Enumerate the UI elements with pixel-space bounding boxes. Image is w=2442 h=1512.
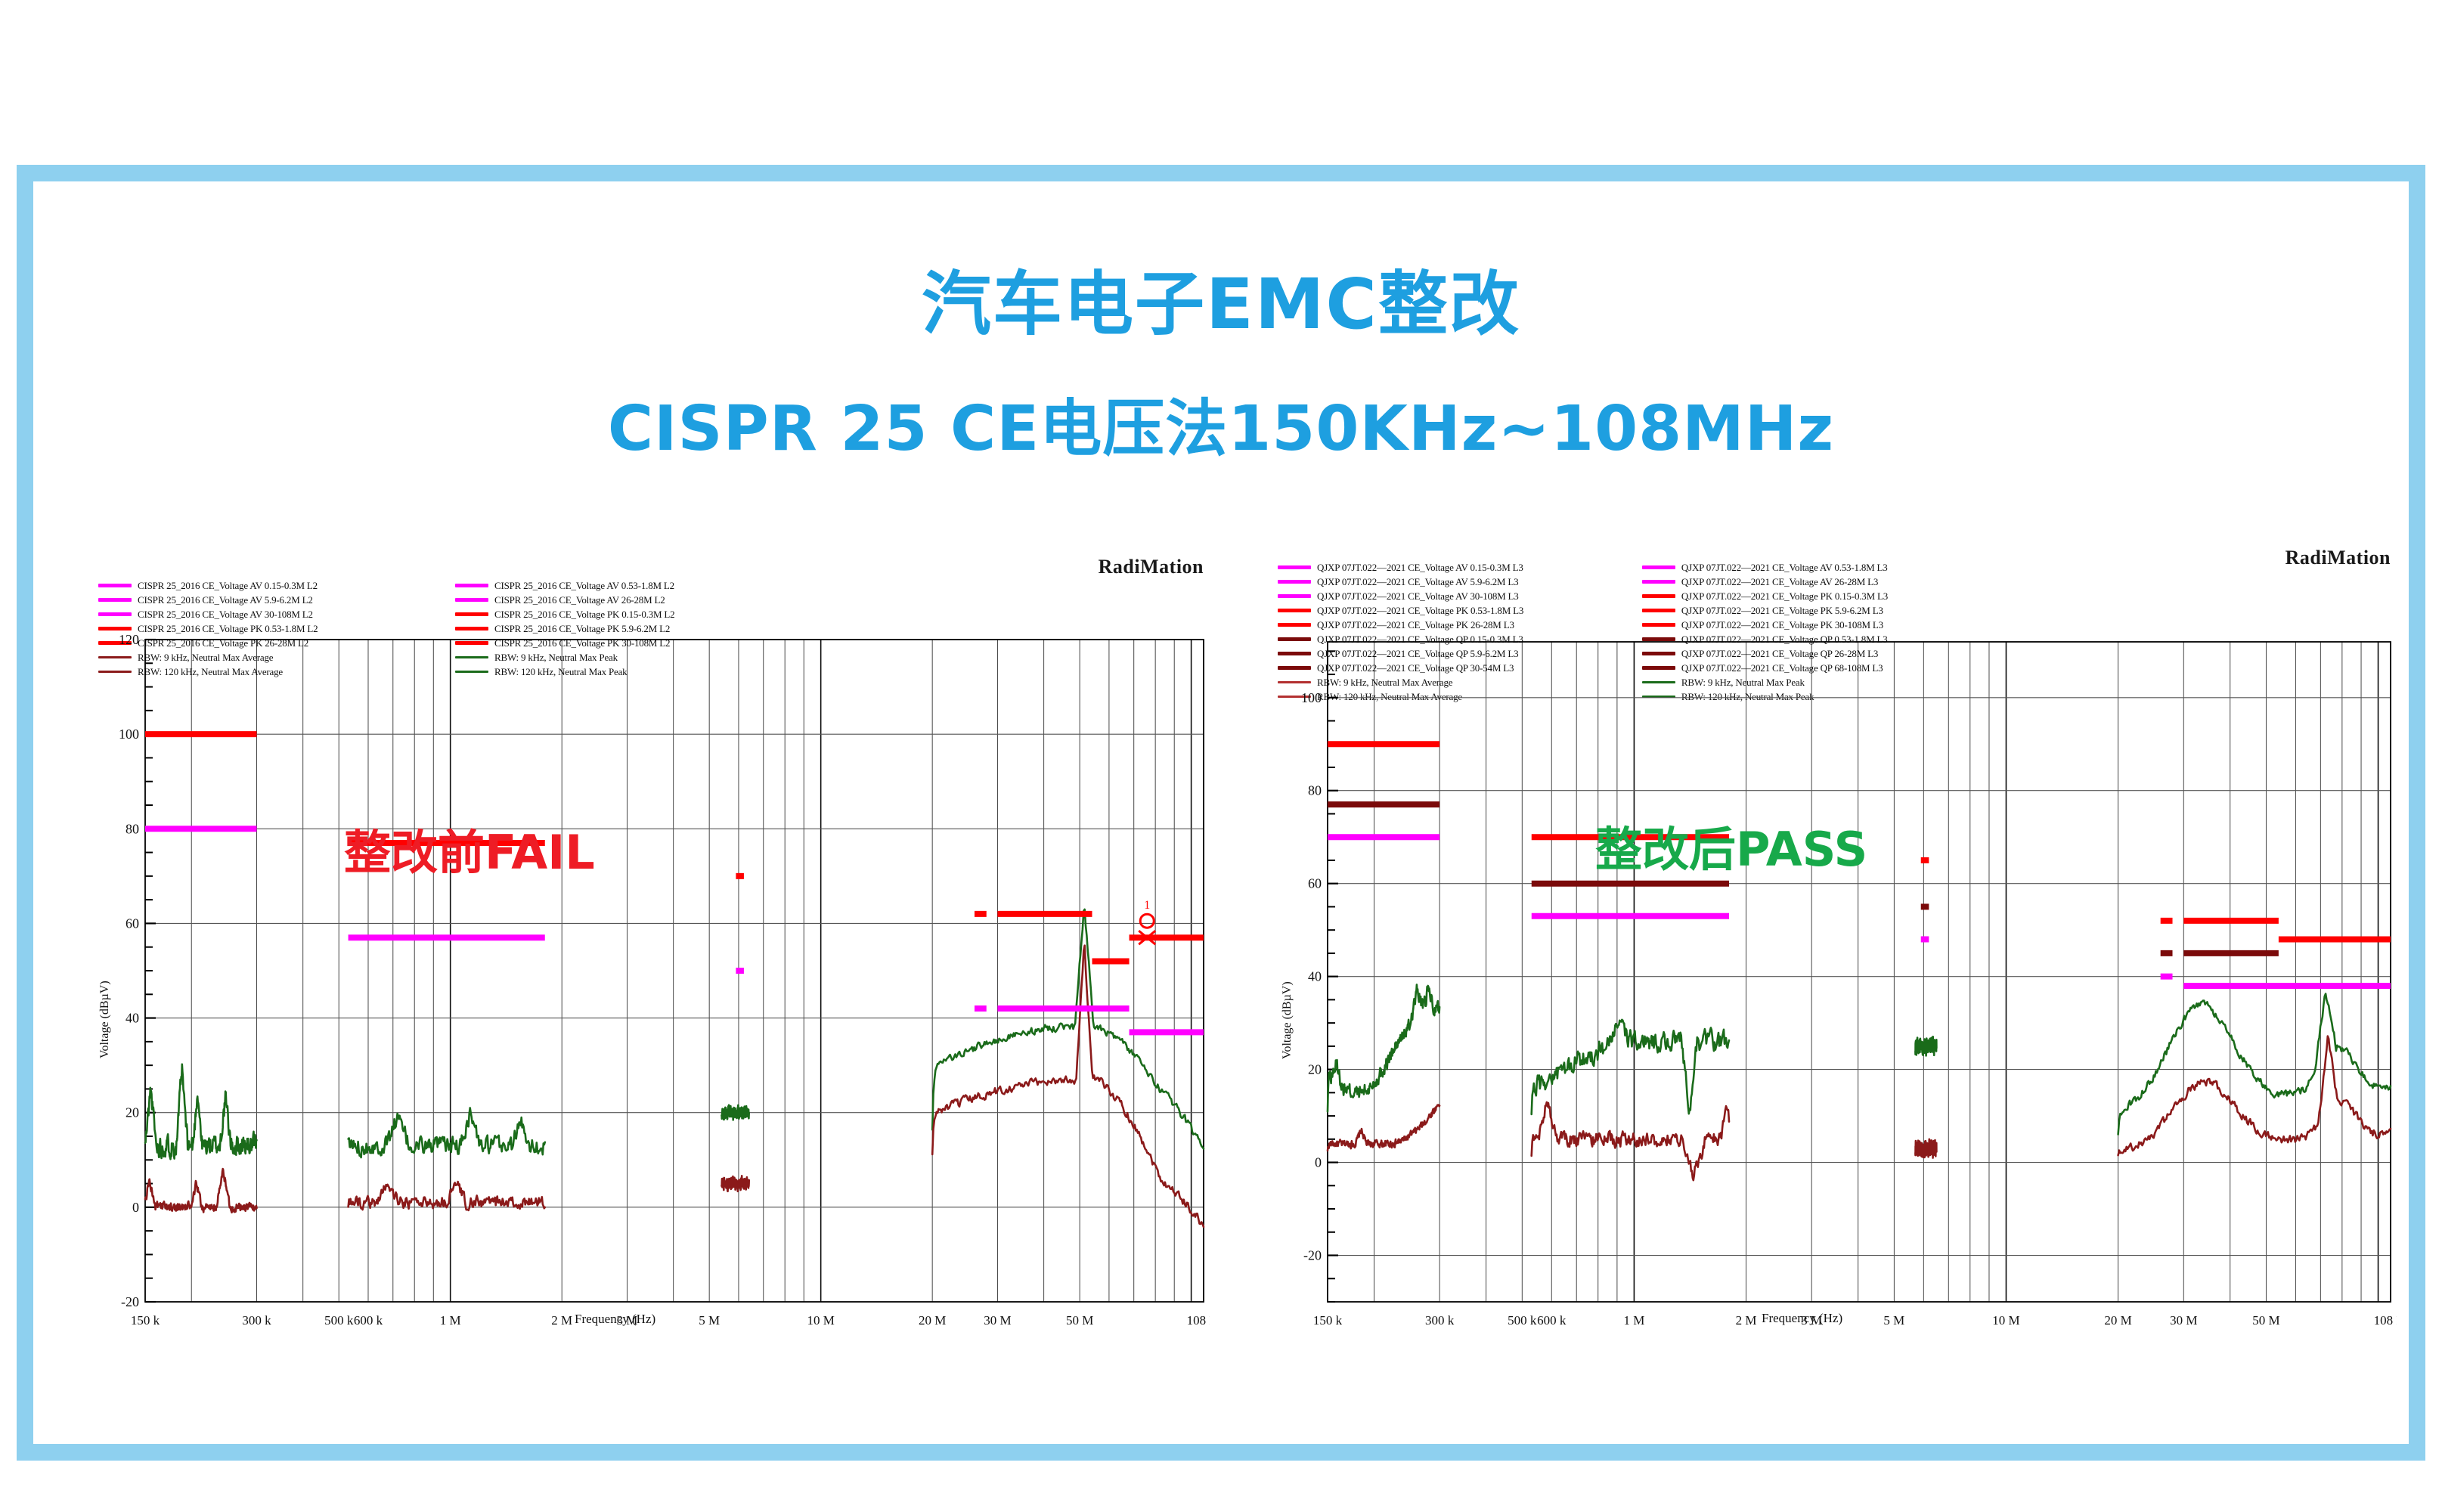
legend-item-label: CISPR 25_2016 CE_Voltage AV 26-28M L2 <box>494 594 665 606</box>
svg-text:10 M: 10 M <box>1992 1313 2019 1328</box>
svg-text:100: 100 <box>1301 690 1322 705</box>
svg-text:0: 0 <box>132 1200 139 1215</box>
legend-item-label: QJXP 07JT.022—2021 CE_Voltage AV 0.53-1.… <box>1681 562 1888 574</box>
svg-text:2 M: 2 M <box>1736 1313 1757 1328</box>
x-axis-label-right: Frequency (Hz) <box>1762 1311 1842 1326</box>
svg-text:150 k: 150 k <box>1313 1313 1343 1328</box>
svg-text:108 M: 108 M <box>1187 1313 1210 1328</box>
legend-item: CISPR 25_2016 CE_Voltage PK 0.53-1.8M L2 <box>98 621 448 636</box>
svg-text:108 M: 108 M <box>2374 1313 2397 1328</box>
legend-item-label: QJXP 07JT.022—2021 CE_Voltage PK 5.9-6.2… <box>1681 605 1883 617</box>
svg-text:60: 60 <box>126 916 139 931</box>
legend-item: CISPR 25_2016 CE_Voltage AV 0.53-1.8M L2 <box>455 578 804 593</box>
chart-panel-before: RadiMation CISPR 25_2016 CE_Voltage AV 0… <box>91 556 1210 1338</box>
axis-left <box>145 640 1204 1302</box>
limit-lines-left: 1 <box>145 734 1204 1032</box>
legend-item: QJXP 07JT.022—2021 CE_Voltage PK 26-28M … <box>1278 618 1635 632</box>
svg-text:500 k: 500 k <box>1508 1313 1537 1328</box>
svg-text:120: 120 <box>119 635 139 647</box>
svg-text:-20: -20 <box>1303 1248 1322 1263</box>
legend-swatch-icon <box>1642 623 1675 627</box>
legend-item: QJXP 07JT.022—2021 CE_Voltage PK 0.15-0.… <box>1642 589 1999 603</box>
traces-left <box>145 909 1204 1227</box>
legend-item: CISPR 25_2016 CE_Voltage AV 0.15-0.3M L2 <box>98 578 448 593</box>
svg-text:150 k: 150 k <box>131 1313 160 1328</box>
legend-swatch-icon <box>1642 609 1675 612</box>
svg-text:80: 80 <box>126 821 139 836</box>
svg-text:0: 0 <box>1315 1155 1322 1170</box>
svg-text:1 M: 1 M <box>1623 1313 1644 1328</box>
svg-text:50 M: 50 M <box>2252 1313 2279 1328</box>
legend-item-label: CISPR 25_2016 CE_Voltage PK 5.9-6.2M L2 <box>494 623 670 635</box>
svg-text:20: 20 <box>126 1105 139 1120</box>
svg-text:1 M: 1 M <box>440 1313 461 1328</box>
legend-item: CISPR 25_2016 CE_Voltage AV 30-108M L2 <box>98 607 448 621</box>
limit-lines-right <box>1328 744 2391 986</box>
svg-text:300 k: 300 k <box>1425 1313 1455 1328</box>
legend-item: QJXP 07JT.022—2021 CE_Voltage AV 0.15-0.… <box>1278 560 1635 575</box>
axis-right <box>1328 642 2391 1302</box>
svg-text:20: 20 <box>1308 1062 1322 1077</box>
y-axis-label-right: Voltage (dBµV) <box>1281 981 1294 1059</box>
svg-text:40: 40 <box>126 1011 139 1026</box>
legend-swatch-icon <box>1278 623 1311 627</box>
legend-item-label: QJXP 07JT.022—2021 CE_Voltage AV 0.15-0.… <box>1317 562 1523 574</box>
legend-item: QJXP 07JT.022—2021 CE_Voltage AV 0.53-1.… <box>1642 560 1999 575</box>
legend-item: CISPR 25_2016 CE_Voltage AV 26-28M L2 <box>455 593 804 607</box>
grid-lines-right <box>1328 642 2391 1302</box>
svg-text:600 k: 600 k <box>1537 1313 1567 1328</box>
svg-text:20 M: 20 M <box>919 1313 946 1328</box>
chart-svg-after: -20020406080100150 k300 k500 k600 k1 M2 … <box>1270 636 2397 1338</box>
legend-swatch-icon <box>455 598 488 602</box>
legend-item-label: CISPR 25_2016 CE_Voltage AV 0.15-0.3M L2 <box>138 580 318 592</box>
legend-item-label: QJXP 07JT.022—2021 CE_Voltage AV 5.9-6.2… <box>1317 576 1518 588</box>
svg-text:50 M: 50 M <box>1066 1313 1093 1328</box>
legend-swatch-icon <box>1642 565 1675 569</box>
slide-root: 汽车电子EMC整改 CISPR 25 CE电压法150KHz~108MHz Ra… <box>0 0 2442 1512</box>
svg-text:-20: -20 <box>121 1294 139 1309</box>
legend-item-label: QJXP 07JT.022—2021 CE_Voltage AV 30-108M… <box>1317 590 1519 603</box>
legend-swatch-icon <box>1642 580 1675 584</box>
legend-item: QJXP 07JT.022—2021 CE_Voltage PK 5.9-6.2… <box>1642 603 1999 618</box>
legend-item-label: QJXP 07JT.022—2021 CE_Voltage AV 26-28M … <box>1681 576 1878 588</box>
legend-swatch-icon <box>1278 580 1311 584</box>
chart-panel-after: RadiMation QJXP 07JT.022—2021 CE_Voltage… <box>1270 547 2397 1338</box>
svg-text:1: 1 <box>1144 899 1150 912</box>
legend-item: QJXP 07JT.022—2021 CE_Voltage PK 30-108M… <box>1642 618 1999 632</box>
svg-text:2 M: 2 M <box>551 1313 572 1328</box>
legend-swatch-icon <box>455 584 488 587</box>
legend-item-label: CISPR 25_2016 CE_Voltage AV 5.9-6.2M L2 <box>138 594 313 606</box>
x-axis-label-left: Frequency (Hz) <box>575 1312 655 1327</box>
svg-text:500 k: 500 k <box>324 1313 354 1328</box>
tick-labels-right: -20020406080100150 k300 k500 k600 k1 M2 … <box>1301 690 2397 1328</box>
svg-text:20 M: 20 M <box>2104 1313 2131 1328</box>
legend-item-label: QJXP 07JT.022—2021 CE_Voltage PK 30-108M… <box>1681 619 1883 631</box>
svg-text:300 k: 300 k <box>242 1313 271 1328</box>
svg-text:30 M: 30 M <box>984 1313 1011 1328</box>
legend-item: CISPR 25_2016 CE_Voltage PK 5.9-6.2M L2 <box>455 621 804 636</box>
radimation-watermark-left: RadiMation <box>1099 556 1204 578</box>
legend-swatch-icon <box>1278 565 1311 569</box>
legend-swatch-icon <box>98 612 132 616</box>
svg-text:600 k: 600 k <box>354 1313 383 1328</box>
legend-item-label: CISPR 25_2016 CE_Voltage AV 0.53-1.8M L2 <box>494 580 674 592</box>
grid-lines-left <box>145 640 1204 1302</box>
legend-swatch-icon <box>1278 609 1311 612</box>
plot-area-before: 1 -20020406080100120150 k300 k500 k600 k… <box>91 635 1210 1338</box>
legend-item-label: QJXP 07JT.022—2021 CE_Voltage PK 0.15-0.… <box>1681 590 1888 603</box>
legend-swatch-icon <box>98 584 132 587</box>
legend-item-label: CISPR 25_2016 CE_Voltage PK 0.53-1.8M L2 <box>138 623 318 635</box>
legend-item-label: CISPR 25_2016 CE_Voltage PK 0.15-0.3M L2 <box>494 609 674 621</box>
legend-swatch-icon <box>455 627 488 631</box>
legend-swatch-icon <box>98 627 132 631</box>
svg-text:40: 40 <box>1308 969 1322 984</box>
tick-labels-left: -20020406080100120150 k300 k500 k600 k1 … <box>119 635 1210 1328</box>
legend-swatch-icon <box>455 612 488 616</box>
legend-item: QJXP 07JT.022—2021 CE_Voltage AV 5.9-6.2… <box>1278 575 1635 589</box>
plot-area-after: -20020406080100150 k300 k500 k600 k1 M2 … <box>1270 636 2397 1338</box>
legend-item: QJXP 07JT.022—2021 CE_Voltage AV 26-28M … <box>1642 575 1999 589</box>
svg-text:5 M: 5 M <box>1883 1313 1904 1328</box>
svg-text:100: 100 <box>119 727 139 742</box>
legend-item-label: QJXP 07JT.022—2021 CE_Voltage PK 0.53-1.… <box>1317 605 1523 617</box>
legend-swatch-icon <box>98 598 132 602</box>
legend-item: QJXP 07JT.022—2021 CE_Voltage AV 30-108M… <box>1278 589 1635 603</box>
y-axis-label-left: Voltage (dBµV) <box>98 981 112 1058</box>
legend-item: CISPR 25_2016 CE_Voltage AV 5.9-6.2M L2 <box>98 593 448 607</box>
traces-right <box>1328 984 2391 1180</box>
chart-svg-before: 1 -20020406080100120150 k300 k500 k600 k… <box>91 635 1210 1338</box>
legend-item: CISPR 25_2016 CE_Voltage PK 0.15-0.3M L2 <box>455 607 804 621</box>
svg-text:60: 60 <box>1308 876 1322 891</box>
legend-swatch-icon <box>1278 594 1311 598</box>
svg-text:30 M: 30 M <box>2170 1313 2197 1328</box>
legend-swatch-icon <box>1642 594 1675 598</box>
svg-text:5 M: 5 M <box>699 1313 720 1328</box>
legend-item: QJXP 07JT.022—2021 CE_Voltage PK 0.53-1.… <box>1278 603 1635 618</box>
svg-text:80: 80 <box>1308 783 1322 798</box>
legend-item-label: QJXP 07JT.022—2021 CE_Voltage PK 26-28M … <box>1317 619 1514 631</box>
svg-text:10 M: 10 M <box>807 1313 834 1328</box>
legend-item-label: CISPR 25_2016 CE_Voltage AV 30-108M L2 <box>138 609 313 621</box>
